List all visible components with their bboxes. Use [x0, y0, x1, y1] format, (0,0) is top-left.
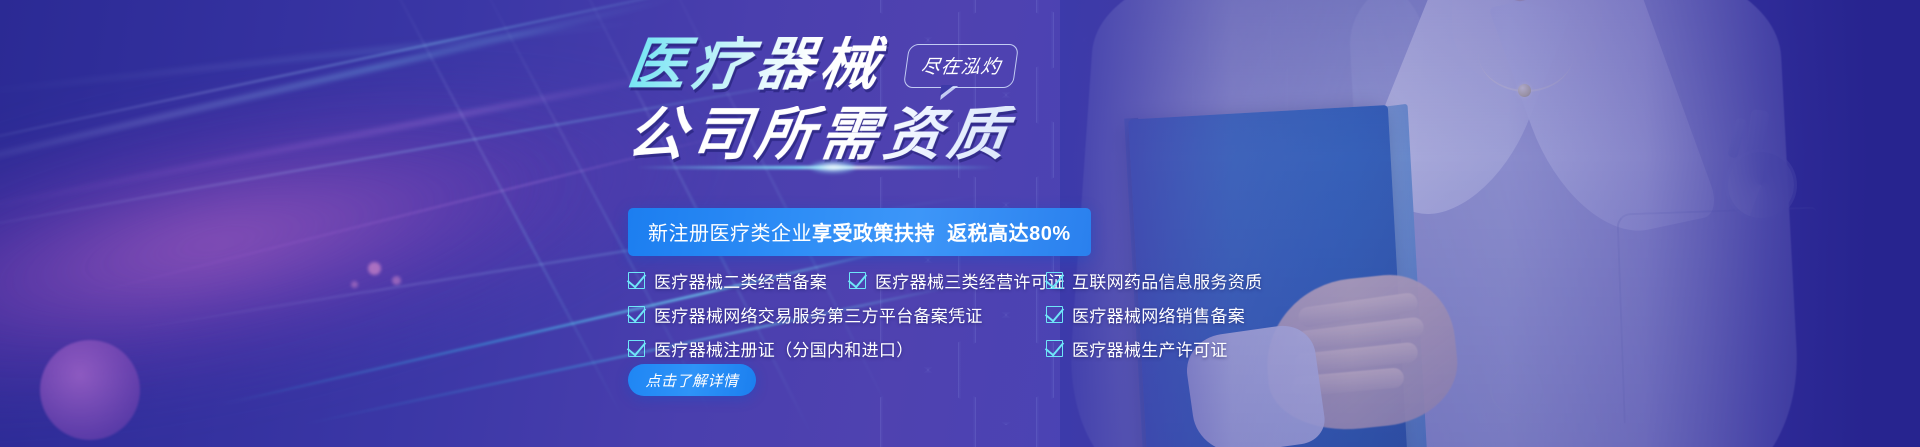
title-block: 医疗器械 尽在泓灼 公司所需资质 [628, 36, 1016, 164]
list-item[interactable]: 医疗器械网络销售备案 [1046, 299, 1262, 329]
promo-text-bold: 享受政策扶持 [812, 223, 935, 245]
list-item[interactable]: 医疗器械网络交易服务第三方平台备案凭证 [628, 299, 1065, 329]
promo-subtitle-bar: 新注册医疗类企业享受政策扶持 返税高达80% [628, 208, 1091, 256]
list-item-label: 医疗器械注册证（分国内和进口） [654, 336, 914, 361]
speech-bubble-tail-icon [940, 86, 958, 100]
list-item-label: 医疗器械网络销售备案 [1072, 302, 1245, 327]
list-item-label: 互联网药品信息服务资质 [1072, 268, 1262, 293]
list-item-label: 医疗器械三类经营许可证 [875, 268, 1065, 293]
brand-badge-label: 尽在泓灼 [919, 57, 1002, 78]
checkbox-checked-icon [1046, 306, 1063, 323]
list-item[interactable]: 互联网药品信息服务资质 [1046, 265, 1262, 295]
banner-title-line-1: 医疗器械 [624, 36, 888, 94]
learn-more-button[interactable]: 点击了解详情 [628, 364, 756, 396]
checkbox-checked-icon [628, 340, 645, 357]
list-item[interactable]: 医疗器械生产许可证 [1046, 333, 1262, 363]
checkbox-checked-icon [628, 306, 645, 323]
qualification-first-row: 医疗器械二类经营备案 医疗器械三类经营许可证 [628, 265, 1065, 299]
medical-device-qualification-banner: 医疗器械 尽在泓灼 公司所需资质 新注册医疗类企业享受政策扶持 返税高达80% … [0, 0, 1920, 447]
title-row-1: 医疗器械 尽在泓灼 [628, 36, 1016, 94]
checkbox-checked-icon [1046, 340, 1063, 357]
list-item-label: 医疗器械生产许可证 [1072, 336, 1228, 361]
banner-content: 医疗器械 尽在泓灼 公司所需资质 新注册医疗类企业享受政策扶持 返税高达80% … [0, 0, 1920, 447]
list-item-label: 医疗器械二类经营备案 [654, 268, 827, 293]
list-item[interactable]: 医疗器械三类经营许可证 [849, 265, 1065, 295]
checkbox-checked-icon [849, 272, 866, 289]
qualification-column-right: 互联网药品信息服务资质 医疗器械网络销售备案 医疗器械生产许可证 [1046, 265, 1262, 367]
list-item-label: 医疗器械网络交易服务第三方平台备案凭证 [654, 302, 983, 327]
promo-text-tail: 返税高达80% [947, 223, 1071, 245]
promo-text-normal: 新注册医疗类企业 [648, 223, 812, 245]
glow-highlight-decoration [810, 161, 856, 173]
list-item[interactable]: 医疗器械注册证（分国内和进口） [628, 333, 1065, 363]
brand-badge: 尽在泓灼 [903, 44, 1019, 88]
checkbox-checked-icon [1046, 272, 1063, 289]
checkbox-checked-icon [628, 272, 645, 289]
qualification-column-left: 医疗器械二类经营备案 医疗器械三类经营许可证 医疗器械网络交易服务第三方平台备案… [628, 265, 1065, 367]
list-item[interactable]: 医疗器械二类经营备案 [628, 265, 827, 295]
banner-title-line-2: 公司所需资质 [624, 106, 1020, 164]
